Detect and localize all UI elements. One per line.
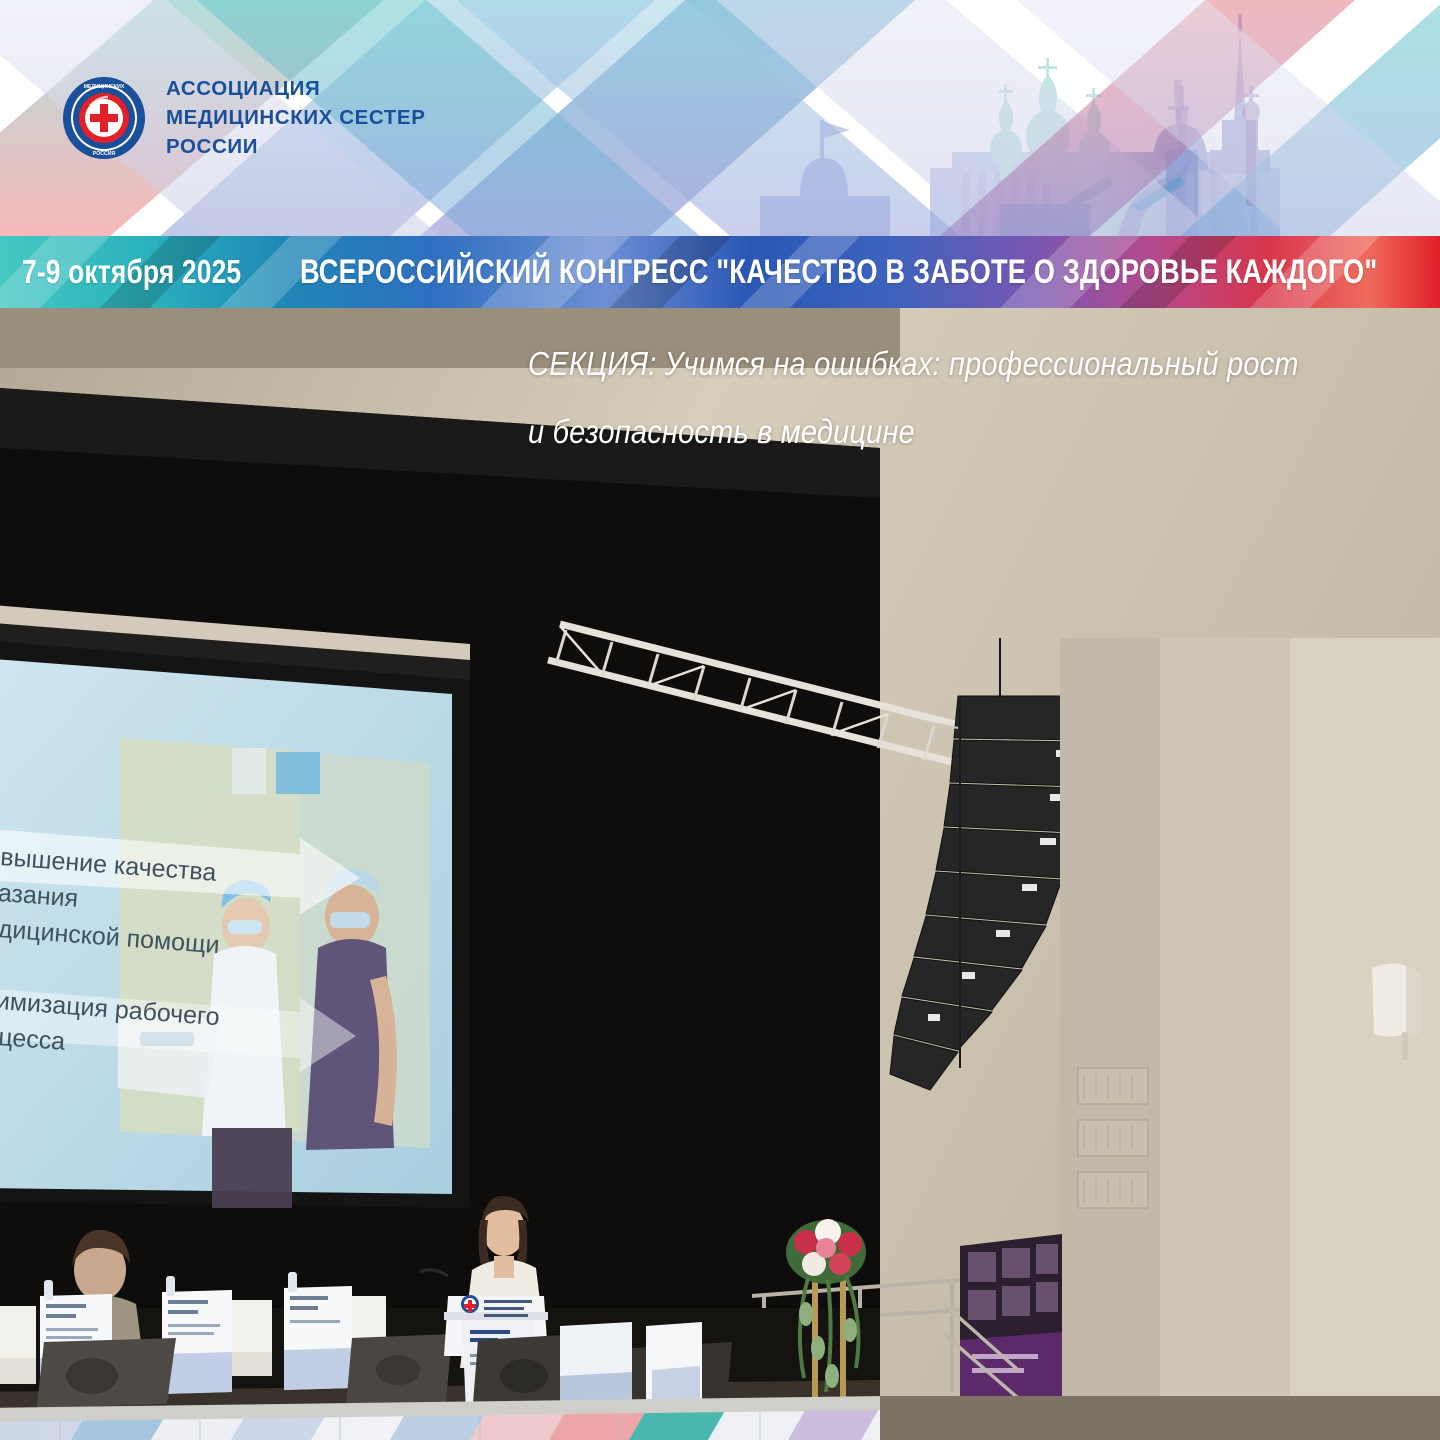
slide-text-line-5: оцесса <box>0 1022 66 1056</box>
congress-dates: 7-9 октября 2025 <box>22 253 241 291</box>
poster-header: МЕДИЦИНСКИХ РОССИЯ АССОЦИАЦИЯ МЕДИЦИНСКИ… <box>0 0 1440 236</box>
congress-title-bar: 7-9 октября 2025 ВСЕРОССИЙСКИЙ КОНГРЕСС … <box>0 236 1440 308</box>
session-photograph: овышение качества казания едицинской пом… <box>0 308 1440 1440</box>
association-logo: МЕДИЦИНСКИХ РОССИЯ АССОЦИАЦИЯ МЕДИЦИНСКИ… <box>62 74 425 161</box>
association-name: АССОЦИАЦИЯ МЕДИЦИНСКИХ СЕСТЕР РОССИИ <box>166 74 425 161</box>
wall-poster <box>960 1234 1062 1410</box>
congress-title: ВСЕРОССИЙСКИЙ КОНГРЕСС "КАЧЕСТВО В ЗАБОТ… <box>300 253 1377 292</box>
svg-text:РОССИЯ: РОССИЯ <box>93 151 116 157</box>
congress-announcement-poster: МЕДИЦИНСКИХ РОССИЯ АССОЦИАЦИЯ МЕДИЦИНСКИ… <box>0 0 1440 1440</box>
red-cross-emblem-icon: МЕДИЦИНСКИХ РОССИЯ <box>62 76 146 160</box>
projection-screen: овышение качества казания едицинской пом… <box>0 604 470 1208</box>
slide-text-line-2: казания <box>0 878 79 913</box>
wall-vents <box>1078 1068 1148 1208</box>
svg-text:МЕДИЦИНСКИХ: МЕДИЦИНСКИХ <box>84 84 125 90</box>
